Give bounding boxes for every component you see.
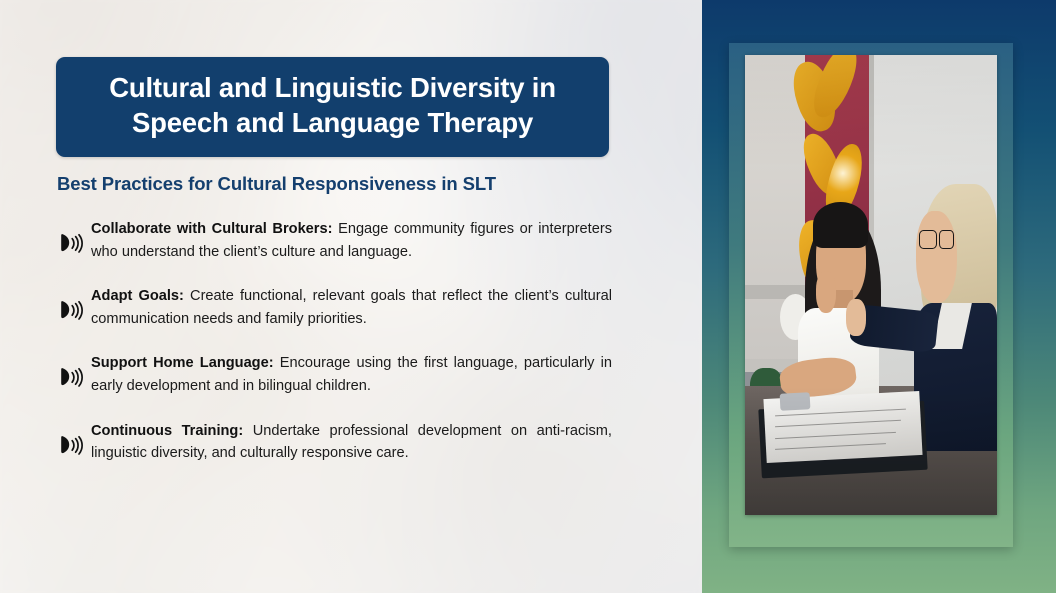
page-title: Cultural and Linguistic Diversity in Spe… (78, 71, 587, 141)
list-item-text: Continuous Training: Undertake professio… (91, 420, 612, 465)
best-practices-list: Collaborate with Cultural Brokers: Engag… (56, 218, 612, 465)
list-item-heading: Continuous Training: (91, 423, 243, 439)
photo-vignette (745, 55, 997, 515)
list-item-heading: Adapt Goals: (91, 288, 184, 304)
list-item: Support Home Language: Encourage using t… (56, 352, 612, 397)
list-item: Collaborate with Cultural Brokers: Engag… (56, 218, 612, 263)
section-subtitle: Best Practices for Cultural Responsivene… (57, 173, 496, 195)
speaking-head-icon (56, 295, 86, 325)
list-item-text: Adapt Goals: Create functional, relevant… (91, 285, 612, 330)
photo-frame (729, 43, 1013, 547)
therapy-session-photo (745, 55, 997, 515)
list-item: Adapt Goals: Create functional, relevant… (56, 285, 612, 330)
list-item: Continuous Training: Undertake professio… (56, 420, 612, 465)
speaking-head-icon (56, 228, 86, 258)
list-item-text: Support Home Language: Encourage using t… (91, 352, 612, 397)
list-item-text: Collaborate with Cultural Brokers: Engag… (91, 218, 612, 263)
speaking-head-icon (56, 430, 86, 460)
list-item-heading: Support Home Language: (91, 355, 274, 371)
title-bar: Cultural and Linguistic Diversity in Spe… (56, 57, 609, 157)
right-image-panel (702, 0, 1056, 593)
list-item-heading: Collaborate with Cultural Brokers: (91, 221, 332, 237)
left-content-panel: Cultural and Linguistic Diversity in Spe… (0, 0, 702, 593)
speaking-head-icon (56, 362, 86, 392)
slide-root: Cultural and Linguistic Diversity in Spe… (0, 0, 1056, 593)
left-panel-content: Cultural and Linguistic Diversity in Spe… (0, 0, 702, 593)
